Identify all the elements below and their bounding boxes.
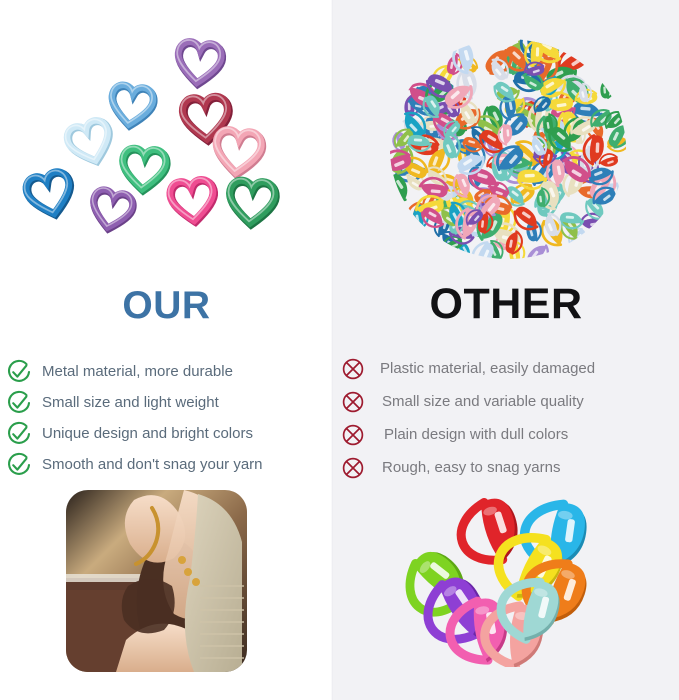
x-circle-icon xyxy=(340,422,366,448)
list-item-label: Plastic material, easily damaged xyxy=(380,360,595,377)
list-item: Unique design and bright colors xyxy=(6,418,331,449)
list-item-label: Unique design and bright colors xyxy=(42,425,253,442)
x-circle-icon xyxy=(340,455,366,481)
our-feature-list: Metal material, more durable Small size … xyxy=(6,356,331,480)
hands-knitting-photo xyxy=(66,490,247,672)
list-item-label: Plain design with dull colors xyxy=(384,426,568,443)
large-plastic-pins-photo xyxy=(388,492,628,667)
heart-stitch-markers-photo xyxy=(0,0,333,275)
check-circle-icon xyxy=(6,390,32,416)
list-item: Plain design with dull colors xyxy=(340,418,679,451)
other-feature-list: Plastic material, easily damaged Small s… xyxy=(340,352,679,484)
page-title-our: OUR xyxy=(0,286,333,325)
comparison-infographic: OUR OTHER Metal material, more durable S… xyxy=(0,0,679,700)
list-item-label: Smooth and don't snag your yarn xyxy=(42,456,263,473)
page-title-other: OTHER xyxy=(333,283,679,326)
x-circle-icon xyxy=(340,356,366,382)
list-item: Smooth and don't snag your yarn xyxy=(6,449,331,480)
check-circle-icon xyxy=(6,421,32,447)
list-item-label: Small size and variable quality xyxy=(382,393,584,410)
list-item: Small size and variable quality xyxy=(340,385,679,418)
list-item-label: Small size and light weight xyxy=(42,394,219,411)
list-item-label: Metal material, more durable xyxy=(42,363,233,380)
check-circle-icon xyxy=(6,359,32,385)
list-item: Plastic material, easily damaged xyxy=(340,352,679,385)
list-item: Small size and light weight xyxy=(6,387,331,418)
x-circle-icon xyxy=(340,389,366,415)
list-item-label: Rough, easy to snag yarns xyxy=(382,459,560,476)
list-item: Metal material, more durable xyxy=(6,356,331,387)
plastic-pin-pile-photo xyxy=(383,33,633,265)
list-item: Rough, easy to snag yarns xyxy=(340,451,679,484)
check-circle-icon xyxy=(6,452,32,478)
